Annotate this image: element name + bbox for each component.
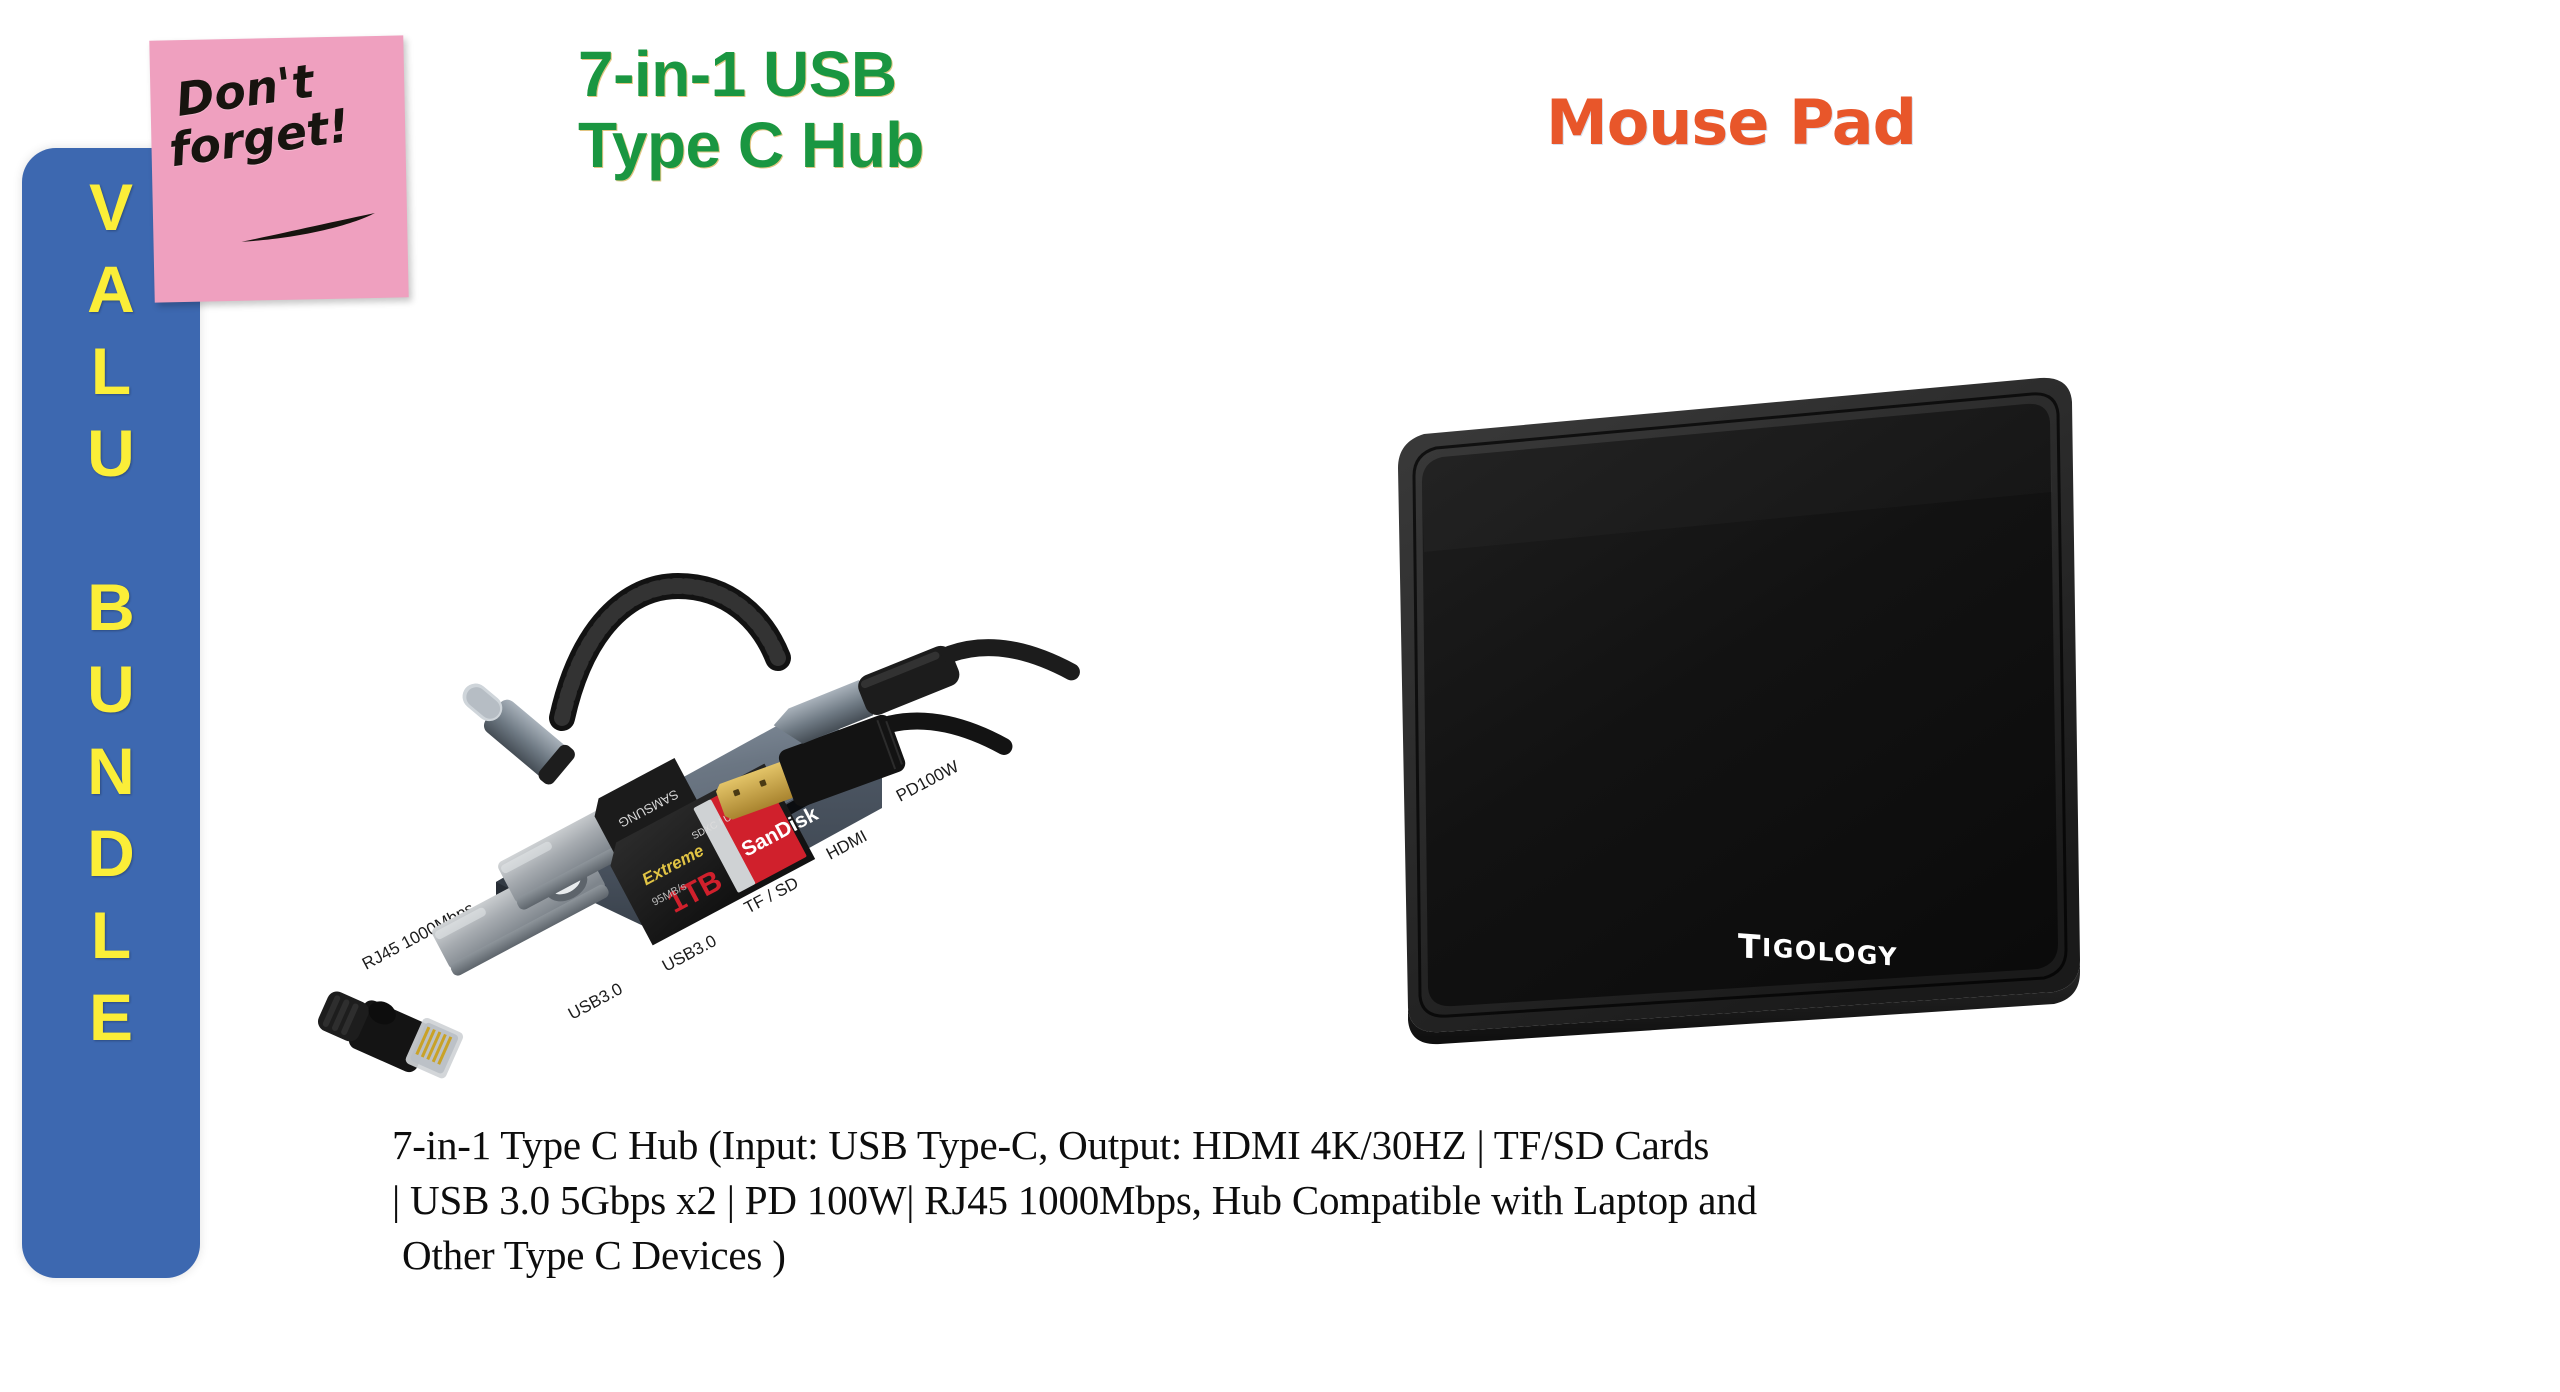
bundle-letter-v: V	[89, 166, 133, 248]
bundle-letter-l2: L	[91, 894, 131, 976]
bundle-letter-d: D	[87, 812, 135, 894]
rj45-cable-plug	[313, 977, 464, 1087]
sticky-note-underline-icon	[239, 212, 380, 245]
sticky-note-text: Don't forget!	[173, 47, 395, 172]
product-description: 7-in-1 Type C Hub (Input: USB Type-C, Ou…	[392, 1118, 2092, 1283]
description-line-2: | USB 3.0 5Gbps x2 | PD 100W| RJ45 1000M…	[392, 1173, 2092, 1228]
usb-hub-product-photo: RJ45 1000Mbps USB3.0 USB3.0 TF / SD HDMI…	[310, 500, 1170, 1120]
bundle-letter-b: B	[87, 566, 135, 648]
mouse-pad-product-photo: TIGOLOGY	[1380, 372, 2100, 1052]
heading-hub-line1: 7-in-1 USB	[578, 38, 897, 110]
heading-mouse-pad: Mouse Pad	[1546, 92, 1916, 154]
brand-cap-letter: T	[1738, 926, 1762, 967]
value-bundle-banner: V A L U B U N D L E	[22, 148, 200, 1278]
bundle-letter-u: U	[87, 412, 135, 494]
product-listing-image: V A L U B U N D L E Don't forget! 7-in-1…	[0, 0, 2560, 1392]
sticky-note-inner: Don't forget!	[149, 35, 408, 302]
bundle-letter-n: N	[87, 730, 135, 812]
usb-hub-illustration: RJ45 1000Mbps USB3.0 USB3.0 TF / SD HDMI…	[310, 500, 1170, 1120]
bundle-letter-e: E	[89, 976, 133, 1058]
label-usb3-left: USB3.0	[565, 979, 626, 1023]
sticky-note: Don't forget!	[149, 35, 408, 302]
heading-hub-line2: Type C Hub	[578, 113, 1118, 178]
value-bundle-letters: V A L U B U N D L E	[22, 148, 200, 1278]
bundle-letter-a: A	[87, 248, 135, 330]
description-line-3: Other Type C Devices )	[392, 1228, 2092, 1283]
bundle-letter-l: L	[91, 330, 131, 412]
description-line-1: 7-in-1 Type C Hub (Input: USB Type-C, Ou…	[392, 1118, 2092, 1173]
label-usb3-right: USB3.0	[659, 931, 720, 975]
heading-usb-hub: 7-in-1 USB Type C Hub	[578, 42, 1118, 179]
bundle-letter-u2: U	[87, 648, 135, 730]
